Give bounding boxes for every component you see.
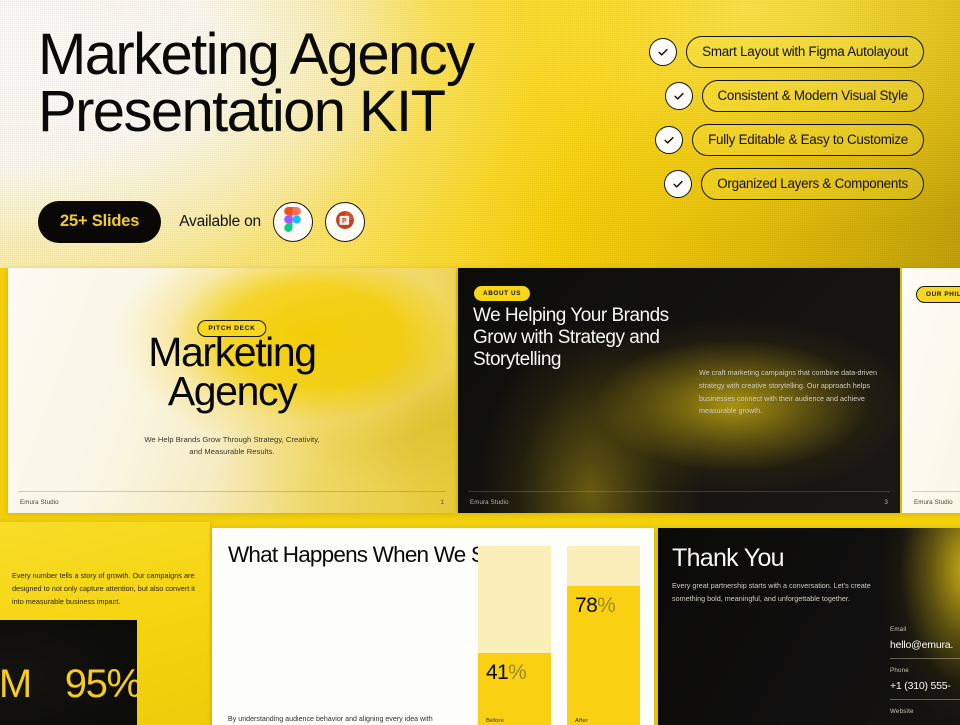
divider xyxy=(468,491,890,492)
check-icon xyxy=(655,126,683,154)
check-icon xyxy=(664,170,692,198)
slide3-badge: OUR PHILOS xyxy=(916,286,960,303)
slide-preview-about[interactable]: ABOUT US We Helping Your Brands Grow wit… xyxy=(458,268,900,513)
figma-app-button[interactable] xyxy=(273,202,313,242)
slide2-page-number: 3 xyxy=(884,499,888,506)
bar-group-after: 78% After xyxy=(567,546,640,725)
contact-value: hello@emura. xyxy=(890,639,960,651)
bar-value-label: 78% xyxy=(575,595,615,616)
slide1-title: Marketing Agency xyxy=(8,333,456,412)
slide4-stat-value: 5M xyxy=(0,662,31,707)
feature-label: Smart Layout with Figma Autolayout xyxy=(686,36,924,68)
slide1-footer-brand: Emura Studio xyxy=(20,499,59,506)
slide2-body: We craft marketing campaigns that combin… xyxy=(699,367,884,418)
available-on-label: Available on xyxy=(179,213,261,231)
slide4-body: Every number tells a story of growth. Ou… xyxy=(12,570,202,609)
slide3-footer-brand: Emura Studio xyxy=(914,499,953,506)
divider xyxy=(18,491,446,492)
contact-list: Email hello@emura. Phone +1 (310) 555- W… xyxy=(890,626,960,725)
slide4-stat-row: 5M 95% xyxy=(0,662,141,707)
slides-count-badge: 25+ Slides xyxy=(38,201,161,243)
slide1-page-number: 1 xyxy=(440,499,444,506)
slide-preview-philosophy[interactable]: OUR PHILOS Emura Studio xyxy=(902,268,960,513)
bar-category-label: Before xyxy=(486,718,504,724)
page-title: Marketing Agency Presentation KIT xyxy=(38,26,473,141)
slide1-footer: Emura Studio 1 xyxy=(8,491,456,513)
slide2-footer-brand: Emura Studio xyxy=(470,499,509,506)
check-icon xyxy=(649,38,677,66)
feature-list: Smart Layout with Figma Autolayout Consi… xyxy=(649,36,924,200)
slide5-footer-text: By understanding audience behavior and a… xyxy=(228,714,498,725)
contact-website: Website xyxy=(890,708,960,725)
slide-preview-stats[interactable]: Every number tells a story of growth. Ou… xyxy=(0,522,210,725)
powerpoint-icon: P xyxy=(334,209,356,236)
divider xyxy=(912,491,960,492)
contact-value: +1 (310) 555- xyxy=(890,680,960,692)
slide6-body: Every great partnership starts with a co… xyxy=(672,580,874,605)
feature-label: Consistent & Modern Visual Style xyxy=(702,80,924,112)
contact-label: Phone xyxy=(890,667,960,674)
slide4-stat-value: 95% xyxy=(65,662,141,707)
bar-category-label: After xyxy=(575,718,588,724)
feature-item[interactable]: Consistent & Modern Visual Style xyxy=(665,80,924,112)
bar-value-label: 41% xyxy=(486,662,526,683)
slide-preview-chart[interactable]: What Happens When We Step In By understa… xyxy=(212,528,654,725)
figma-icon xyxy=(284,207,301,237)
bar-chart: 41% Before 78% After xyxy=(478,546,640,725)
slide3-background xyxy=(902,268,960,513)
slide-preview-thankyou[interactable]: Thank You Every great partnership starts… xyxy=(658,528,960,725)
contact-phone: Phone +1 (310) 555- xyxy=(890,667,960,700)
slide-preview-title[interactable]: PITCH DECK Marketing Agency We Help Bran… xyxy=(8,268,456,513)
svg-text:P: P xyxy=(342,218,347,225)
presentation-kit-promo: Marketing Agency Presentation KIT 25+ Sl… xyxy=(0,0,960,725)
feature-label: Fully Editable & Easy to Customize xyxy=(692,124,924,156)
contact-label: Email xyxy=(890,626,960,633)
slide2-footer: Emura Studio 3 xyxy=(458,491,900,513)
powerpoint-app-button[interactable]: P xyxy=(325,202,365,242)
contact-email: Email hello@emura. xyxy=(890,626,960,659)
slide2-badge: ABOUT US xyxy=(474,286,530,301)
check-icon xyxy=(665,82,693,110)
slide1-subtitle: We Help Brands Grow Through Strategy, Cr… xyxy=(8,434,456,458)
bar-group-before: 41% Before xyxy=(478,546,551,725)
feature-label: Organized Layers & Components xyxy=(701,168,924,200)
contact-label: Website xyxy=(890,708,960,715)
availability-row: 25+ Slides Available on P xyxy=(38,201,365,243)
feature-item[interactable]: Organized Layers & Components xyxy=(664,168,924,200)
slide6-title: Thank You xyxy=(672,546,784,571)
feature-item[interactable]: Fully Editable & Easy to Customize xyxy=(655,124,924,156)
feature-item[interactable]: Smart Layout with Figma Autolayout xyxy=(649,36,924,68)
slide3-footer: Emura Studio xyxy=(902,491,960,513)
slide2-title: We Helping Your Brands Grow with Strateg… xyxy=(473,305,723,372)
